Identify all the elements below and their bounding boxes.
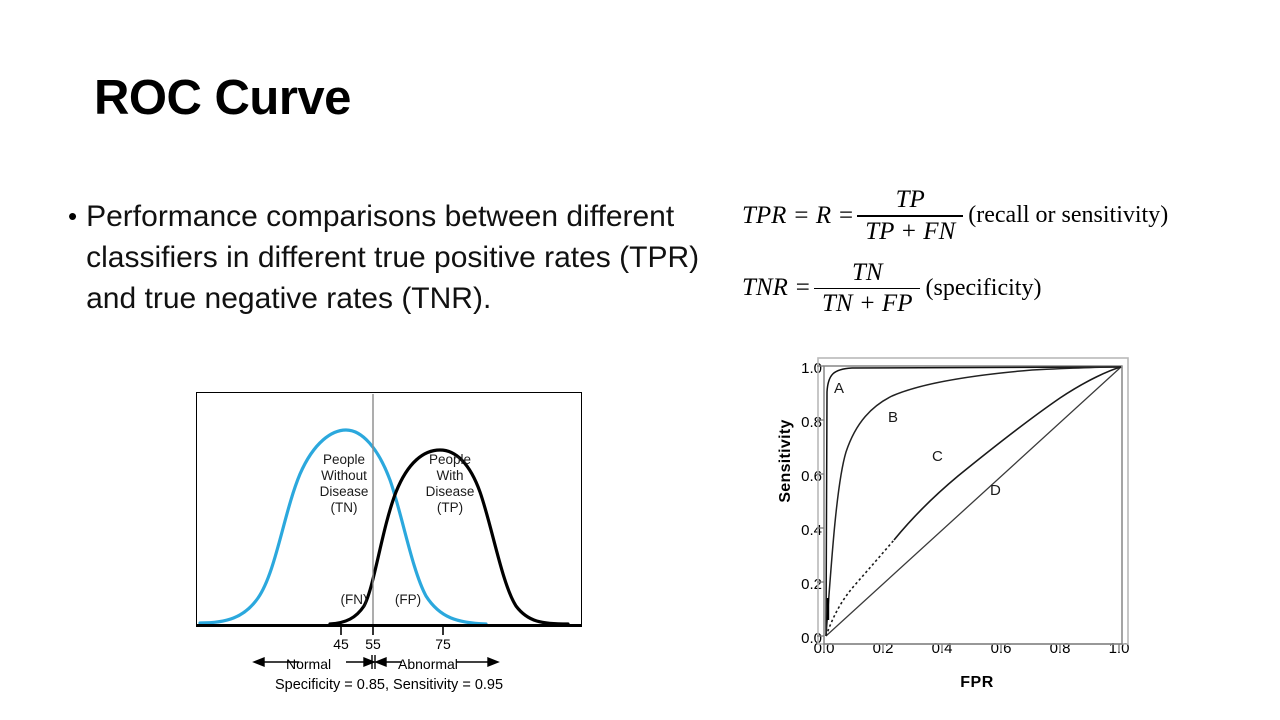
range-label-abnormal: Abnormal <box>398 656 458 672</box>
formula-tpr-lhs: TPR = R = <box>742 202 854 230</box>
distribution-plot-svg <box>196 392 584 698</box>
formula-tnr-lhs: TNR = <box>742 274 811 302</box>
roc-curve-label-b: B <box>888 409 898 426</box>
list-item: • Performance comparisons between differ… <box>68 196 728 319</box>
axis-tick-label-75: 75 <box>428 636 458 652</box>
label-without-disease-line-1: People <box>302 452 386 468</box>
formula-tnr-note: (specificity) <box>925 275 1041 302</box>
roc-curve-label-c: C <box>932 448 943 465</box>
roc-curve-label-a: A <box>834 380 844 397</box>
label-false-positive: (FP) <box>388 592 428 608</box>
roc-curve-c <box>894 367 1121 540</box>
label-with-disease-line-3: Disease <box>408 484 492 500</box>
roc-curve-c-dotted <box>826 540 894 636</box>
formula-tpr-denominator: TP + FN <box>857 217 963 246</box>
bullet-text: Performance comparisons between differen… <box>86 196 728 319</box>
bullet-list: • Performance comparisons between differ… <box>68 196 728 319</box>
label-with-disease-line-1: People <box>408 452 492 468</box>
roc-x-tickmarks <box>824 644 1119 651</box>
formula-block: TPR = R = TP TP + FN (recall or sensitiv… <box>742 186 1168 331</box>
formula-tpr: TPR = R = TP TP + FN (recall or sensitiv… <box>742 186 1168 246</box>
label-with-disease-line-2: With <box>408 468 492 484</box>
formula-tnr: TNR = TN TN + FP (specificity) <box>742 259 1168 319</box>
distribution-chart: People Without Disease (TN) People With … <box>196 392 584 698</box>
label-without-disease-line-2: Without <box>302 468 386 484</box>
formula-tpr-fraction: TP TP + FN <box>857 186 963 246</box>
formula-tnr-denominator: TN + FP <box>814 289 921 318</box>
roc-curve-d <box>826 367 1121 636</box>
label-false-negative: (FN) <box>334 592 374 608</box>
range-labels: Normal Abnormal <box>254 656 504 674</box>
formula-tpr-note: (recall or sensitivity) <box>968 202 1168 229</box>
label-without-disease: People Without Disease (TN) <box>302 452 386 516</box>
bullet-dot-icon: • <box>68 196 77 237</box>
label-without-disease-line-4: (TN) <box>302 500 386 516</box>
axis-tick-label-45: 45 <box>326 636 356 652</box>
label-with-disease-line-4: (TP) <box>408 500 492 516</box>
formula-tnr-fraction: TN TN + FP <box>814 259 921 319</box>
roc-chart: Sensitivity FPR 1.0 0.8 0.6 0.4 0.2 0.0 … <box>742 352 1162 702</box>
range-label-normal: Normal <box>286 656 331 672</box>
roc-curve-label-d: D <box>990 482 1001 499</box>
axis-tick-label-55: 55 <box>358 636 388 652</box>
formula-tpr-numerator: TP <box>888 186 933 215</box>
roc-plot-svg <box>742 352 1162 682</box>
page-title: ROC Curve <box>94 74 351 123</box>
label-with-disease: People With Disease (TP) <box>408 452 492 516</box>
label-without-disease-line-3: Disease <box>302 484 386 500</box>
formula-tnr-numerator: TN <box>844 259 891 288</box>
distribution-footer-stats: Specificity = 0.85, Sensitivity = 0.95 <box>196 677 582 693</box>
